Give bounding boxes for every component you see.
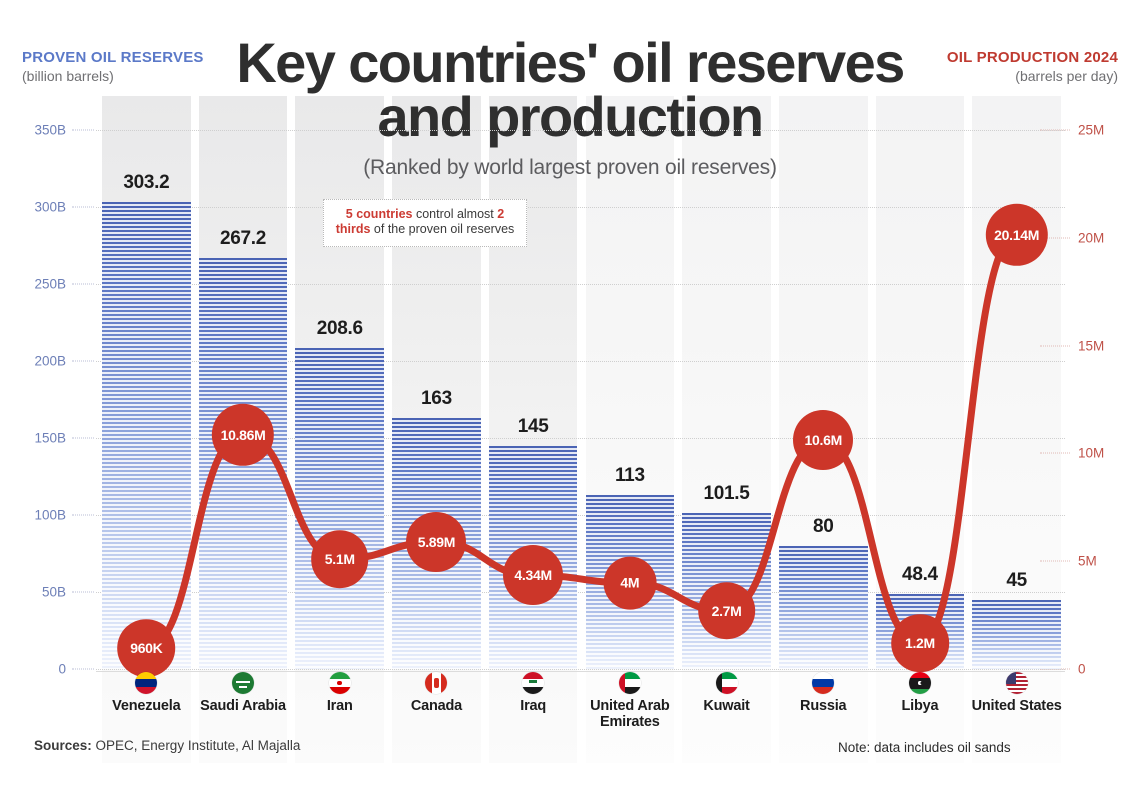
x-axis-category[interactable]: Kuwait — [678, 672, 775, 714]
flag-russia-icon — [812, 672, 834, 694]
flag-saudi-arabia-icon — [232, 672, 254, 694]
country-label: Saudi Arabia — [195, 698, 292, 714]
flag-venezuela-icon — [135, 672, 157, 694]
x-axis-category[interactable]: Iraq — [485, 672, 582, 714]
country-label: Iraq — [485, 698, 582, 714]
flag-kuwait-icon — [716, 672, 738, 694]
flag-iran-icon — [329, 672, 351, 694]
callout-text-1: control almost — [412, 207, 497, 221]
flag-united-states-icon — [1006, 672, 1028, 694]
x-axis-category[interactable]: Canada — [388, 672, 485, 714]
x-axis-category[interactable]: Saudi Arabia — [195, 672, 292, 714]
country-label: Libya — [872, 698, 969, 714]
flag-uae-icon — [619, 672, 641, 694]
production-data-point[interactable]: 2.7M — [698, 582, 756, 640]
production-data-point[interactable]: 960K — [118, 620, 176, 678]
country-label: United States — [968, 698, 1065, 714]
production-data-point[interactable]: 4M — [603, 556, 656, 609]
flag-libya-icon — [909, 672, 931, 694]
infographic-root: PROVEN OIL RESERVES (billion barrels) OI… — [0, 0, 1140, 799]
production-data-point[interactable]: 1.2M — [891, 614, 949, 672]
country-label: Kuwait — [678, 698, 775, 714]
flag-iraq-icon — [522, 672, 544, 694]
annotation-callout: 5 countries control almost 2 thirds of t… — [323, 199, 527, 247]
chart-plot-area: 050B100B150B200B250B300B350B05M10M15M20M… — [0, 0, 1140, 799]
production-data-point[interactable]: 4.34M — [503, 545, 563, 605]
x-axis-category[interactable]: United States — [968, 672, 1065, 714]
sources-label: Sources: — [34, 738, 92, 753]
production-data-point[interactable]: 10.6M — [793, 410, 853, 470]
x-axis-category[interactable]: United Arab Emirates — [582, 672, 679, 730]
production-line-path — [146, 235, 1016, 649]
production-data-point[interactable]: 5.89M — [406, 512, 466, 572]
sources-text: OPEC, Energy Institute, Al Majalla — [92, 738, 301, 753]
country-label: Russia — [775, 698, 872, 714]
sources-line: Sources: OPEC, Energy Institute, Al Maja… — [34, 738, 300, 753]
country-label: United Arab Emirates — [582, 698, 679, 730]
country-label: Canada — [388, 698, 485, 714]
footnote: Note: data includes oil sands — [838, 740, 1011, 755]
x-axis-category[interactable]: Iran — [291, 672, 388, 714]
callout-text-2: of the proven oil reserves — [370, 222, 514, 236]
x-axis-category[interactable]: Russia — [775, 672, 872, 714]
country-label: Iran — [291, 698, 388, 714]
x-axis-category[interactable]: Venezuela — [98, 672, 195, 714]
flag-canada-icon — [425, 672, 447, 694]
x-axis-category[interactable]: Libya — [872, 672, 969, 714]
country-label: Venezuela — [98, 698, 195, 714]
callout-strong-1: 5 countries — [346, 207, 413, 221]
production-data-point[interactable]: 5.1M — [311, 530, 369, 588]
